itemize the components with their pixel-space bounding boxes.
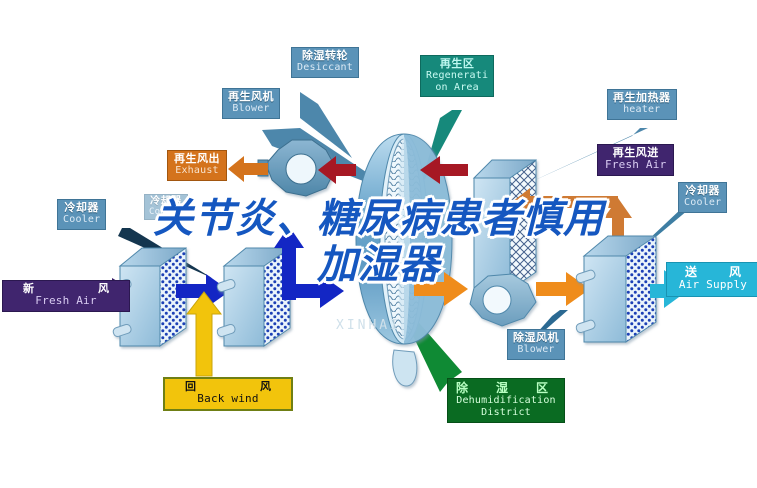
- label-air-supply-en: Air Supply: [675, 279, 751, 291]
- label-desiccant-wheel-en: Desiccant: [297, 62, 353, 73]
- label-regen-exhaust-cn: 再生风出: [174, 153, 220, 165]
- label-regen-heater-cn: 再生加热器: [613, 92, 671, 104]
- label-regeneration-area-en2: on Area: [426, 82, 488, 93]
- label-desiccant-wheel-cn: 除湿转轮: [297, 50, 353, 62]
- label-dehumidification-district: 除 湿 区 Dehumidification District: [447, 378, 565, 423]
- label-cooler-right-cn: 冷却器: [684, 185, 721, 197]
- label-regen-blower-en: Blower: [228, 103, 274, 114]
- label-regen-fresh-air-en: Fresh Air: [605, 159, 666, 171]
- label-fresh-air-en: Fresh Air: [9, 295, 123, 307]
- label-cooler-left-cn: 冷却器: [63, 202, 100, 214]
- label-regen-blower: 再生风机 Blower: [222, 88, 280, 119]
- label-cooler-left-secondary-cn: 冷却器: [149, 196, 183, 207]
- back-wind-arrow: [187, 292, 221, 376]
- label-fresh-air: 新 风 Fresh Air: [2, 280, 130, 312]
- cooler-unit-3: [575, 236, 656, 342]
- label-dehum-blower-en: Blower: [513, 344, 559, 355]
- label-regeneration-area: 再生区 Regenerati on Area: [420, 55, 494, 97]
- label-regen-blower-cn: 再生风机: [228, 91, 274, 103]
- label-cooler-left-secondary-en: Cooler: [149, 207, 183, 217]
- label-regen-fresh-air: 再生风进 Fresh Air: [597, 144, 674, 176]
- label-cooler-left: 冷却器 Cooler: [57, 199, 106, 230]
- label-desiccant-wheel: 除湿转轮 Desiccant: [291, 47, 359, 78]
- label-dehumidification-district-en1: Dehumidification: [456, 395, 556, 406]
- label-cooler-right: 冷却器 Cooler: [678, 182, 727, 213]
- label-dehumidification-district-en2: District: [456, 407, 556, 418]
- label-cooler-right-en: Cooler: [684, 197, 721, 208]
- label-back-wind: 回 风 Back wind: [163, 377, 293, 411]
- label-dehum-blower: 除湿风机 Blower: [507, 329, 565, 360]
- diagram-canvas: XINHAI 除湿转轮 Desiccant 再生风机 Blower 再生风出 E…: [0, 0, 757, 488]
- label-regen-exhaust: 再生风出 Exhaust: [167, 150, 227, 181]
- regeneration-heater: [474, 160, 536, 290]
- label-regeneration-area-en1: Regenerati: [426, 70, 488, 81]
- label-regeneration-area-cn: 再生区: [426, 58, 488, 70]
- watermark: XINHAI: [336, 318, 401, 333]
- label-regen-exhaust-en: Exhaust: [174, 165, 220, 176]
- label-regen-heater: 再生加热器 heater: [607, 89, 677, 120]
- label-air-supply-cn: 送 风: [675, 266, 751, 279]
- cooler-unit-2: [216, 248, 290, 346]
- label-dehum-blower-cn: 除湿风机: [513, 332, 559, 344]
- label-dehumidification-district-cn: 除 湿 区: [456, 382, 556, 395]
- label-regen-heater-en: heater: [613, 104, 671, 115]
- label-air-supply: 送 风 Air Supply: [666, 262, 757, 297]
- label-back-wind-en: Back wind: [171, 393, 285, 405]
- desiccant-dehumidifier-schematic: [0, 0, 757, 488]
- label-cooler-left-secondary: 冷却器 Cooler: [144, 194, 188, 220]
- label-cooler-left-en: Cooler: [63, 214, 100, 225]
